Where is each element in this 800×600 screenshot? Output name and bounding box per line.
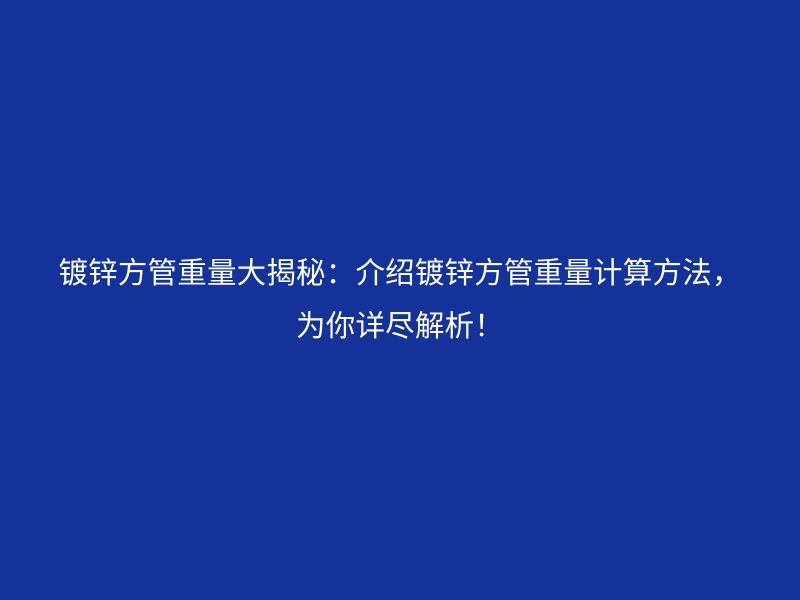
- page-title: 镀锌方管重量大揭秘：介绍镀锌方管重量计算方法，为你详尽解析！: [50, 247, 750, 353]
- title-banner: 镀锌方管重量大揭秘：介绍镀锌方管重量计算方法，为你详尽解析！: [0, 0, 800, 600]
